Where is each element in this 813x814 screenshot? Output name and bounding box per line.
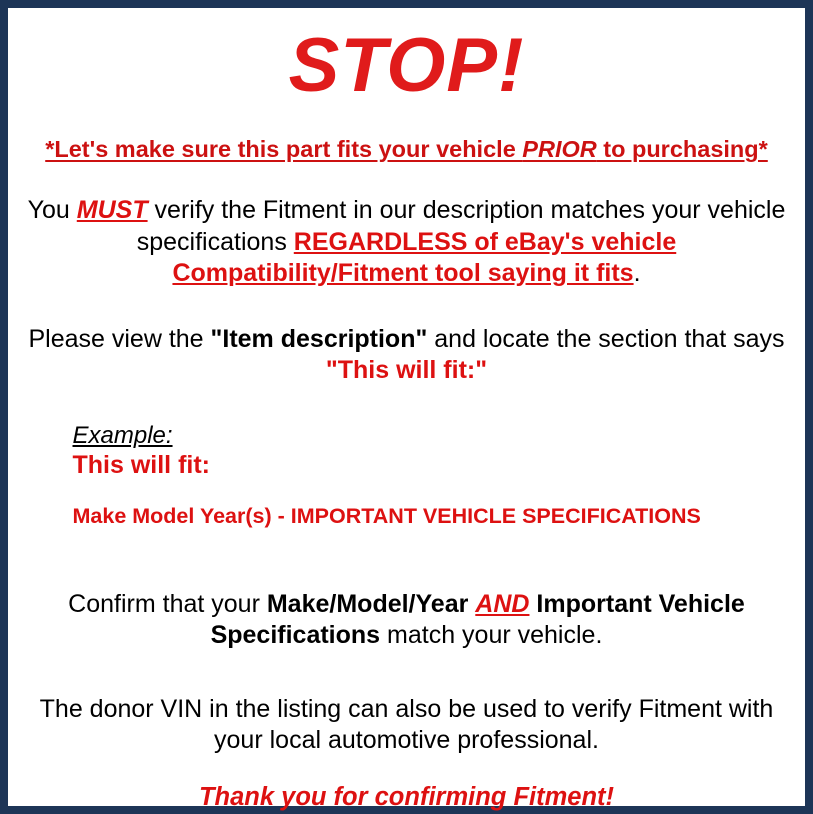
- paragraph-verify-fitment: You MUST verify the Fitment in our descr…: [27, 195, 787, 290]
- tagline: *Let's make sure this part fits your veh…: [45, 136, 768, 163]
- example-block: Example: This will fit: Make Model Year(…: [27, 423, 787, 529]
- tagline-emphasis: PRIOR: [522, 136, 596, 162]
- example-label: Example:: [73, 423, 787, 449]
- page-title: STOP!: [289, 28, 525, 104]
- item-description-label: "Item description": [211, 325, 428, 353]
- view-text-1: Please view the: [28, 325, 210, 353]
- confirm-text-2: match your vehicle.: [380, 621, 602, 649]
- thank-you-message: Thank you for confirming Fitment!: [199, 783, 614, 812]
- make-model-year-label: Make/Model/Year: [267, 590, 468, 618]
- example-spec-line: Make Model Year(s) - IMPORTANT VEHICLE S…: [73, 504, 787, 529]
- tagline-trail: to purchasing*: [597, 136, 768, 162]
- paragraph-view-description: Please view the "Item description" and l…: [27, 324, 787, 387]
- confirm-text-1: Confirm that your: [68, 590, 267, 618]
- view-text-2: and locate the section that says: [427, 325, 784, 353]
- notice-inner: STOP! *Let's make sure this part fits yo…: [8, 8, 805, 806]
- verify-text-1: You: [28, 196, 77, 224]
- paragraph-confirm: Confirm that your Make/Model/Year AND Im…: [27, 589, 787, 652]
- verify-text-3: .: [634, 259, 641, 287]
- and-emphasis: AND: [475, 590, 529, 618]
- example-fit-header: This will fit:: [73, 451, 787, 480]
- paragraph-donor-vin: The donor VIN in the listing can also be…: [27, 694, 787, 757]
- this-will-fit-quote: "This will fit:": [326, 356, 487, 384]
- must-emphasis: MUST: [77, 196, 148, 224]
- tagline-lead: *Let's make sure this part fits your veh…: [45, 136, 522, 162]
- fitment-notice-card: STOP! *Let's make sure this part fits yo…: [0, 0, 813, 814]
